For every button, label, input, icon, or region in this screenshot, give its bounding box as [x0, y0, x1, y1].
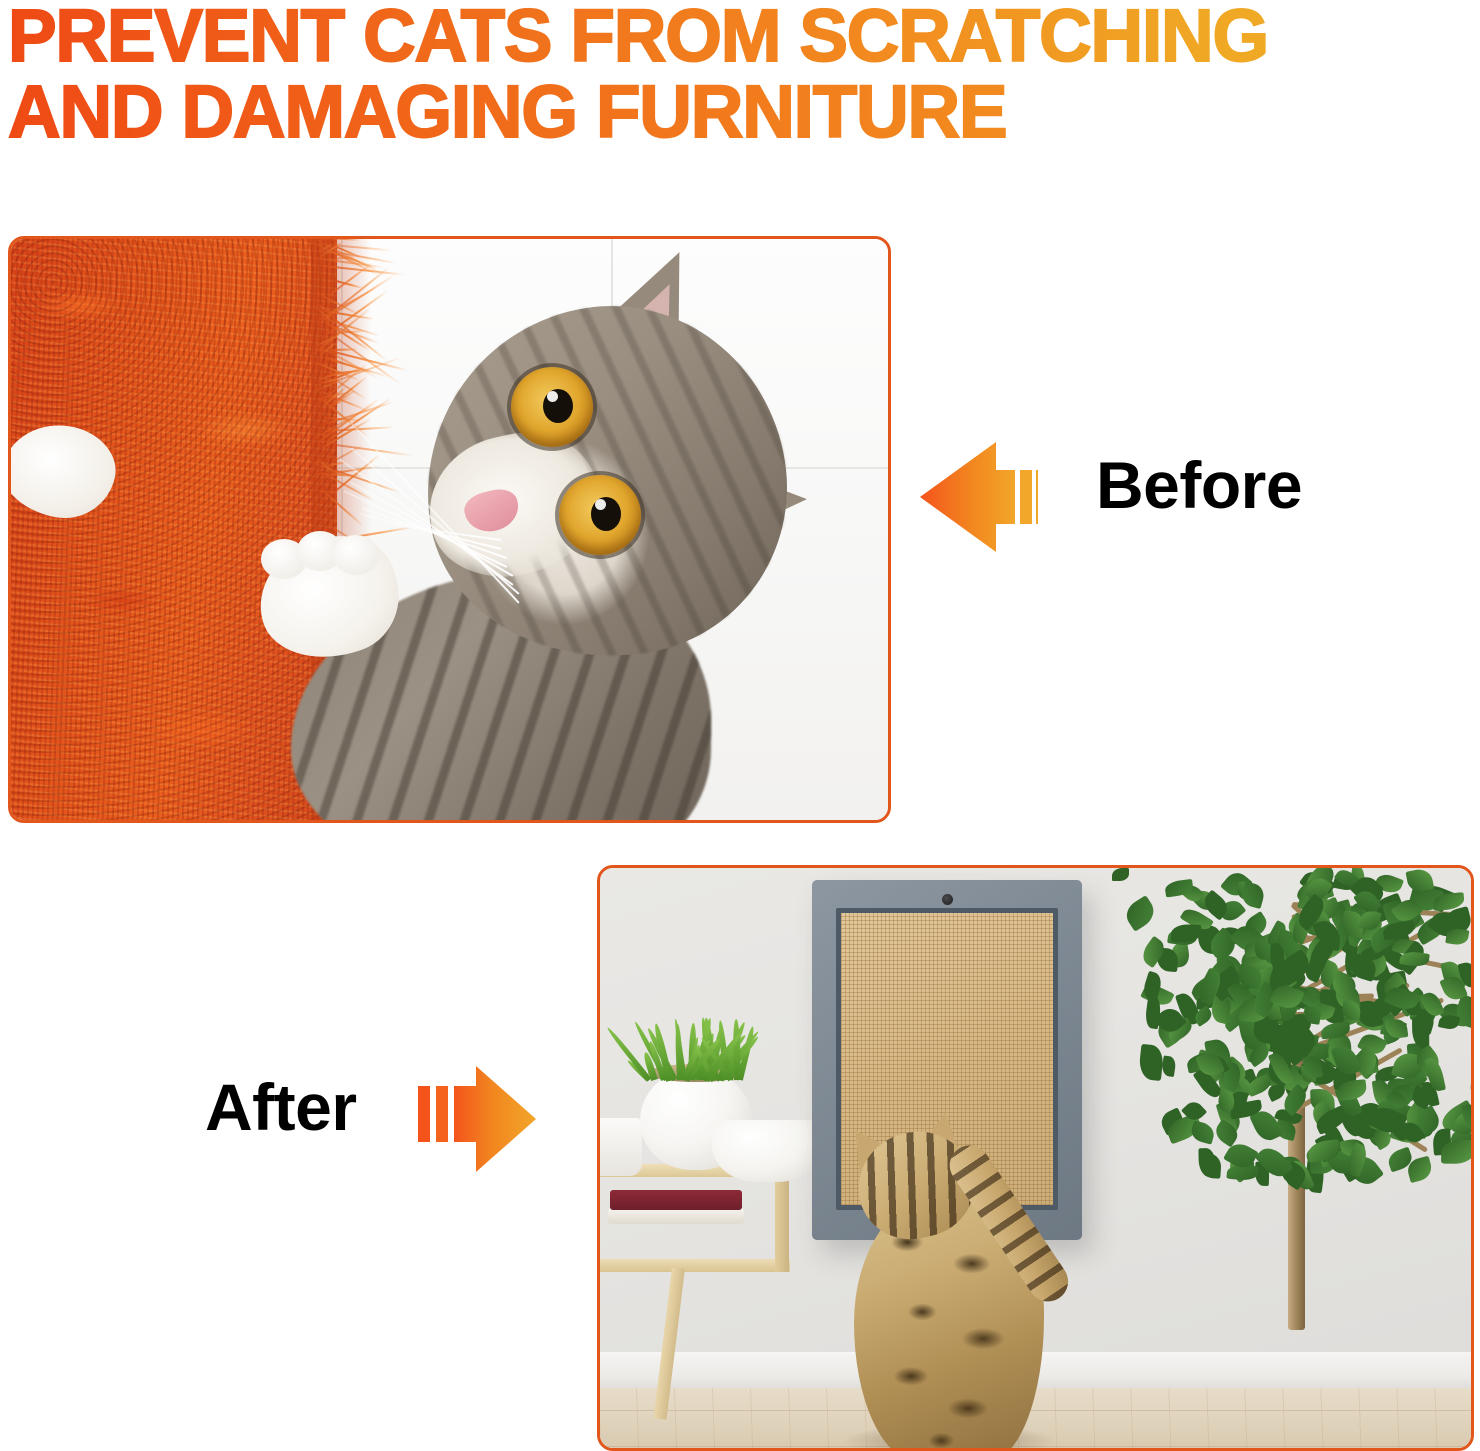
before-cat	[311, 239, 888, 820]
shredded-fabric	[11, 239, 337, 820]
white-cup	[600, 1118, 642, 1176]
cat-eye-gleam-right	[595, 499, 606, 510]
table-lower-shelf	[600, 1259, 790, 1272]
before-photo-inner	[11, 239, 888, 820]
after-label: After	[205, 1074, 357, 1140]
headline-line-1: PREVENT CATS FROM SCRATCHING	[8, 0, 1458, 74]
mounting-screw	[942, 894, 953, 905]
book-lower	[608, 1208, 744, 1224]
infographic-canvas: PREVENT CATS FROM SCRATCHING AND DAMAGIN…	[0, 0, 1480, 1450]
arrow-right-icon	[418, 1064, 538, 1176]
after-photo-inner	[600, 868, 1471, 1448]
page-title: PREVENT CATS FROM SCRATCHING AND DAMAGIN…	[8, 0, 1458, 150]
cat-eye-gleam-left	[547, 391, 558, 402]
after-arrow	[418, 1064, 538, 1176]
ficus-tree	[1106, 868, 1471, 1442]
arrow-left-icon	[918, 440, 1038, 554]
after-cat	[814, 1064, 1064, 1448]
before-label: Before	[1096, 452, 1302, 518]
headline-line-2: AND DAMAGING FURNITURE	[8, 74, 1458, 150]
white-bowl	[712, 1120, 822, 1182]
after-photo	[597, 865, 1474, 1451]
before-photo	[8, 236, 891, 823]
before-arrow	[918, 440, 1038, 554]
cat-toe	[333, 535, 379, 575]
book-upper	[610, 1190, 742, 1210]
